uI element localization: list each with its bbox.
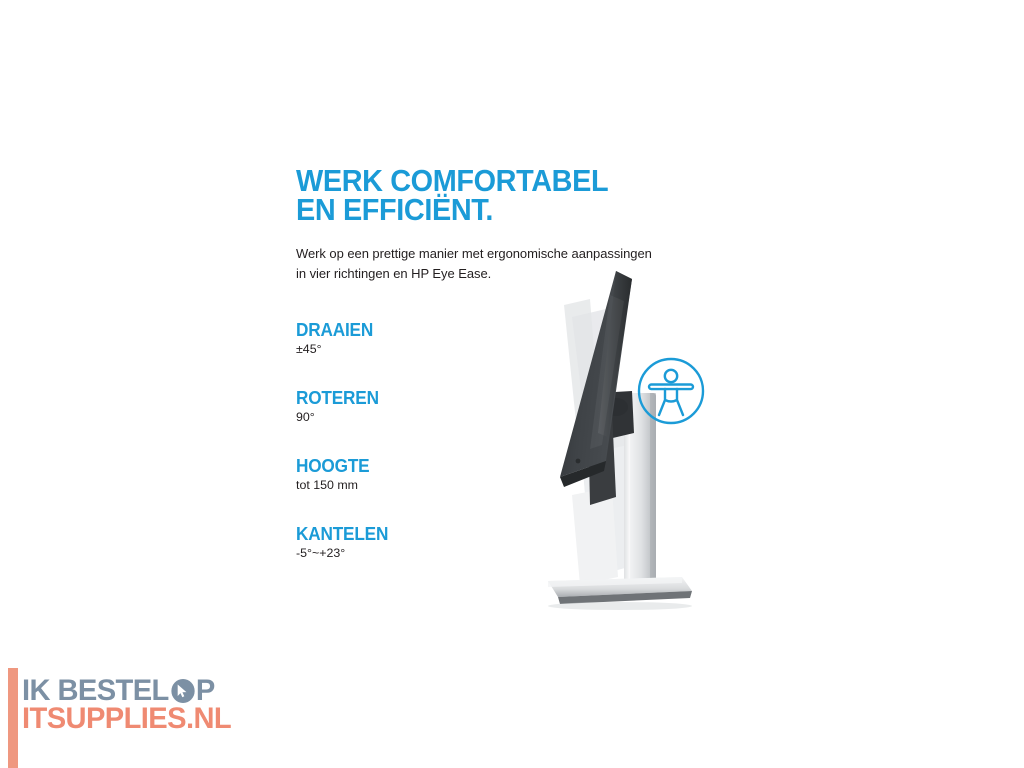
spec-value-kantelen: -5°~+23° — [296, 545, 526, 561]
spec-item-roteren: ROTEREN 90° — [296, 388, 526, 456]
stand-base — [548, 577, 692, 610]
spec-term-draaien: DRAAIEN — [296, 320, 510, 340]
accessibility-badge — [636, 356, 706, 426]
brand-logo-itsupplies[interactable]: IK BESTEL P ITSUPPLIES.NL — [22, 678, 282, 748]
spec-value-draaien: ±45° — [296, 341, 526, 357]
spec-item-kantelen: KANTELEN -5°~+23° — [296, 524, 526, 592]
logo-text-op-suffix: P — [196, 678, 215, 704]
promo-slide: WERK COMFORTABEL EN EFFICIËNT. Werk op e… — [0, 0, 1024, 768]
headline-line-2: EN EFFICIËNT. — [296, 195, 733, 224]
logo-accent-bar — [8, 668, 18, 768]
logo-line-itsupplies-nl: ITSUPPLIES.NL — [22, 706, 274, 732]
headline-line-1: WERK COMFORTABEL — [296, 166, 733, 195]
spec-value-roteren: 90° — [296, 409, 526, 425]
spec-item-draaien: DRAAIEN ±45° — [296, 320, 526, 388]
logo-text-ik-bestel: IK BESTEL — [22, 678, 169, 704]
spec-term-hoogte: HOOGTE — [296, 456, 510, 476]
subcopy-line-1: Werk op een prettige manier met ergonomi… — [296, 244, 749, 264]
logo-line-ik-bestel-op: IK BESTEL P — [22, 678, 274, 704]
headline-block: WERK COMFORTABEL EN EFFICIËNT. — [296, 166, 766, 224]
product-image-hp-monitor — [520, 265, 740, 610]
spec-term-kantelen: KANTELEN — [296, 524, 510, 544]
spec-value-hoogte: tot 150 mm — [296, 477, 526, 493]
accessibility-person-icon — [636, 356, 706, 426]
mouse-cursor-icon — [172, 679, 195, 703]
ergonomics-spec-list: DRAAIEN ±45° ROTEREN 90° HOOGTE tot 150 … — [296, 320, 526, 592]
spec-item-hoogte: HOOGTE tot 150 mm — [296, 456, 526, 524]
spec-term-roteren: ROTEREN — [296, 388, 510, 408]
